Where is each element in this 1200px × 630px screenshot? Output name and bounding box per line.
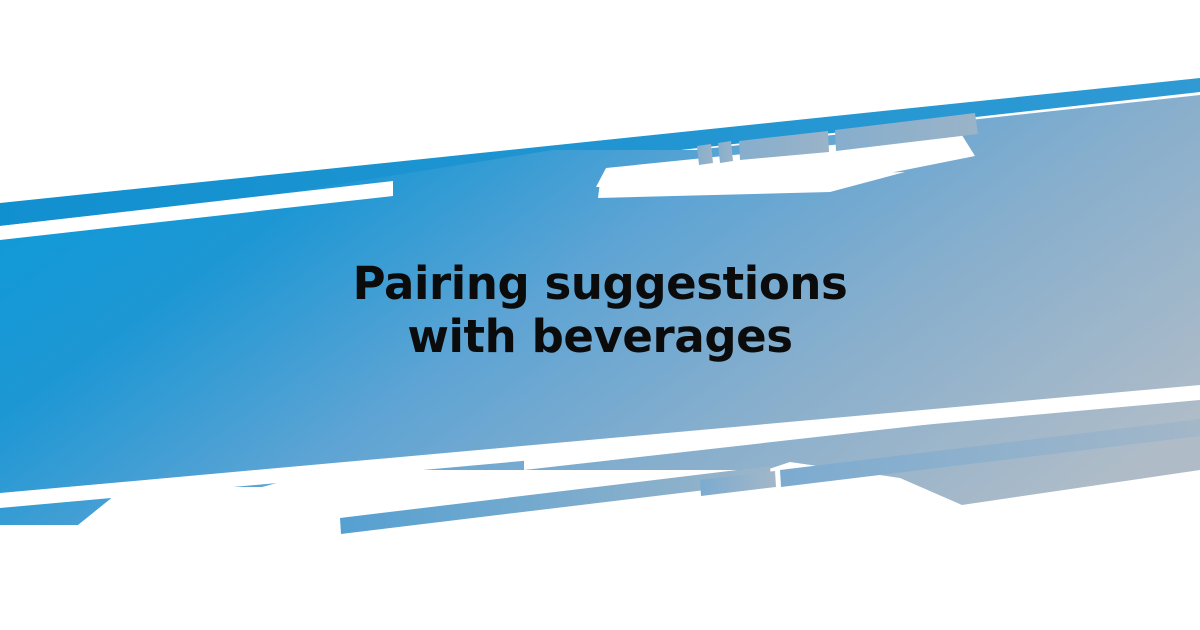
banner-root: Pairing suggestions with beverages <box>0 0 1200 630</box>
banner-decorative-artwork <box>0 0 1200 630</box>
